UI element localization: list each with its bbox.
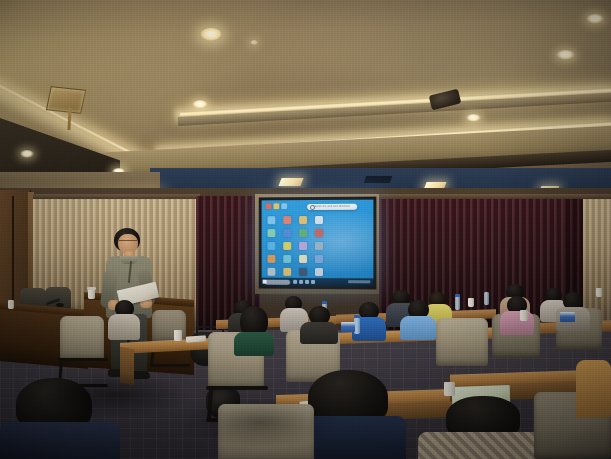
attendee-mid-5 <box>400 300 436 336</box>
chair-middle-4[interactable] <box>436 318 488 366</box>
floor-shadow-1 <box>40 372 190 418</box>
ceiling-vent-icon <box>46 86 86 114</box>
attendee-mid-3 <box>300 306 338 340</box>
paper-cup-mid-1 <box>174 330 182 341</box>
paper-cup-mid-2 <box>520 310 528 321</box>
floor-shadow-2 <box>180 396 340 448</box>
head-table-cup <box>8 300 14 309</box>
chair-middle-1[interactable] <box>60 316 104 360</box>
tissue-box-mid-2 <box>560 312 575 322</box>
paper-cup-back-1 <box>468 298 474 307</box>
podium-cup-lid <box>87 287 96 290</box>
bottle-cap-mid-1 <box>354 315 360 318</box>
curtain-rod-left <box>33 194 200 199</box>
chair-middle-1-frame <box>58 358 108 361</box>
chair-middle-2-frame <box>206 386 268 390</box>
curtain-rod-right <box>379 194 611 199</box>
presenter-glasses-icon <box>119 240 137 244</box>
head-table-mic-base <box>56 303 64 307</box>
attendee-mid-6 <box>500 296 534 330</box>
downlight-2 <box>556 50 575 60</box>
downlight-8 <box>250 40 258 45</box>
attendee-mid-1 <box>108 300 140 336</box>
downlight-5 <box>20 150 34 158</box>
attendee-top <box>500 311 534 335</box>
attendee-front-far-right <box>576 360 611 420</box>
attendee-top <box>0 422 120 459</box>
bottle-cap-back-2 <box>455 294 460 297</box>
paper-cup-back-2 <box>596 288 602 297</box>
empty-chair-base <box>150 364 190 367</box>
attendee-top <box>400 316 436 340</box>
paper-cup-front <box>444 382 455 396</box>
tissue-box-mid-1 <box>341 322 355 332</box>
bottle-cap-back-1 <box>322 301 327 304</box>
attendee-top <box>234 332 274 356</box>
attendee-mid-2 <box>232 306 276 352</box>
downlight-4 <box>466 114 481 122</box>
water-bottle-back-2 <box>455 296 460 310</box>
conference-room-photo: Search the web and Windows <box>0 0 611 459</box>
downlight-3 <box>192 100 208 109</box>
downlight-7 <box>586 14 604 24</box>
attendee-top <box>576 360 611 418</box>
downlight-1 <box>200 28 222 41</box>
water-bottle-back-3 <box>484 292 489 305</box>
projector-light-spill <box>238 180 398 310</box>
attendee-top <box>108 314 140 340</box>
podium-cup <box>88 289 95 299</box>
attendee-top <box>300 322 338 344</box>
